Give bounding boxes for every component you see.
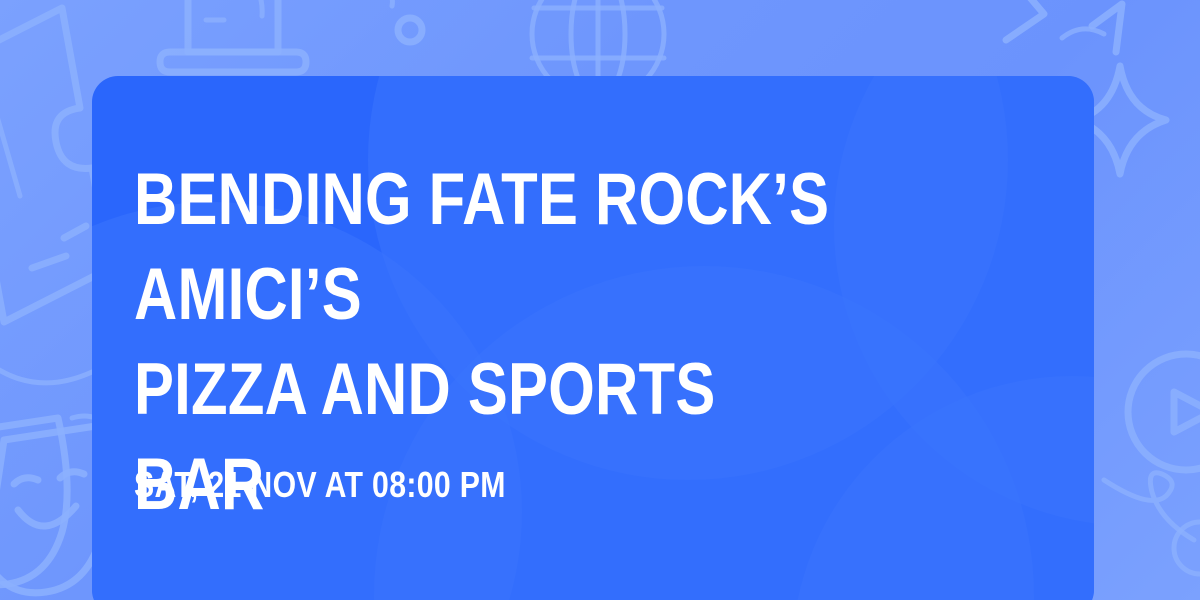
theater-masks-icon [0, 416, 105, 593]
event-datetime: Sat, 21 Nov at 08:00 PM [134, 462, 506, 508]
event-banner: Bending Fate Rock’s Amici’s Pizza and Sp… [0, 0, 1200, 600]
balloon-string-icon [1104, 473, 1200, 574]
card-content: Bending Fate Rock’s Amici’s Pizza and Sp… [134, 76, 1094, 600]
easel-icon [160, 0, 306, 72]
play-circle-icon [1128, 354, 1200, 470]
smile-icon [0, 226, 92, 383]
ring-icon [386, 0, 422, 42]
confetti-icon [1006, 0, 1122, 52]
event-card[interactable]: Bending Fate Rock’s Amici’s Pizza and Sp… [92, 76, 1094, 600]
